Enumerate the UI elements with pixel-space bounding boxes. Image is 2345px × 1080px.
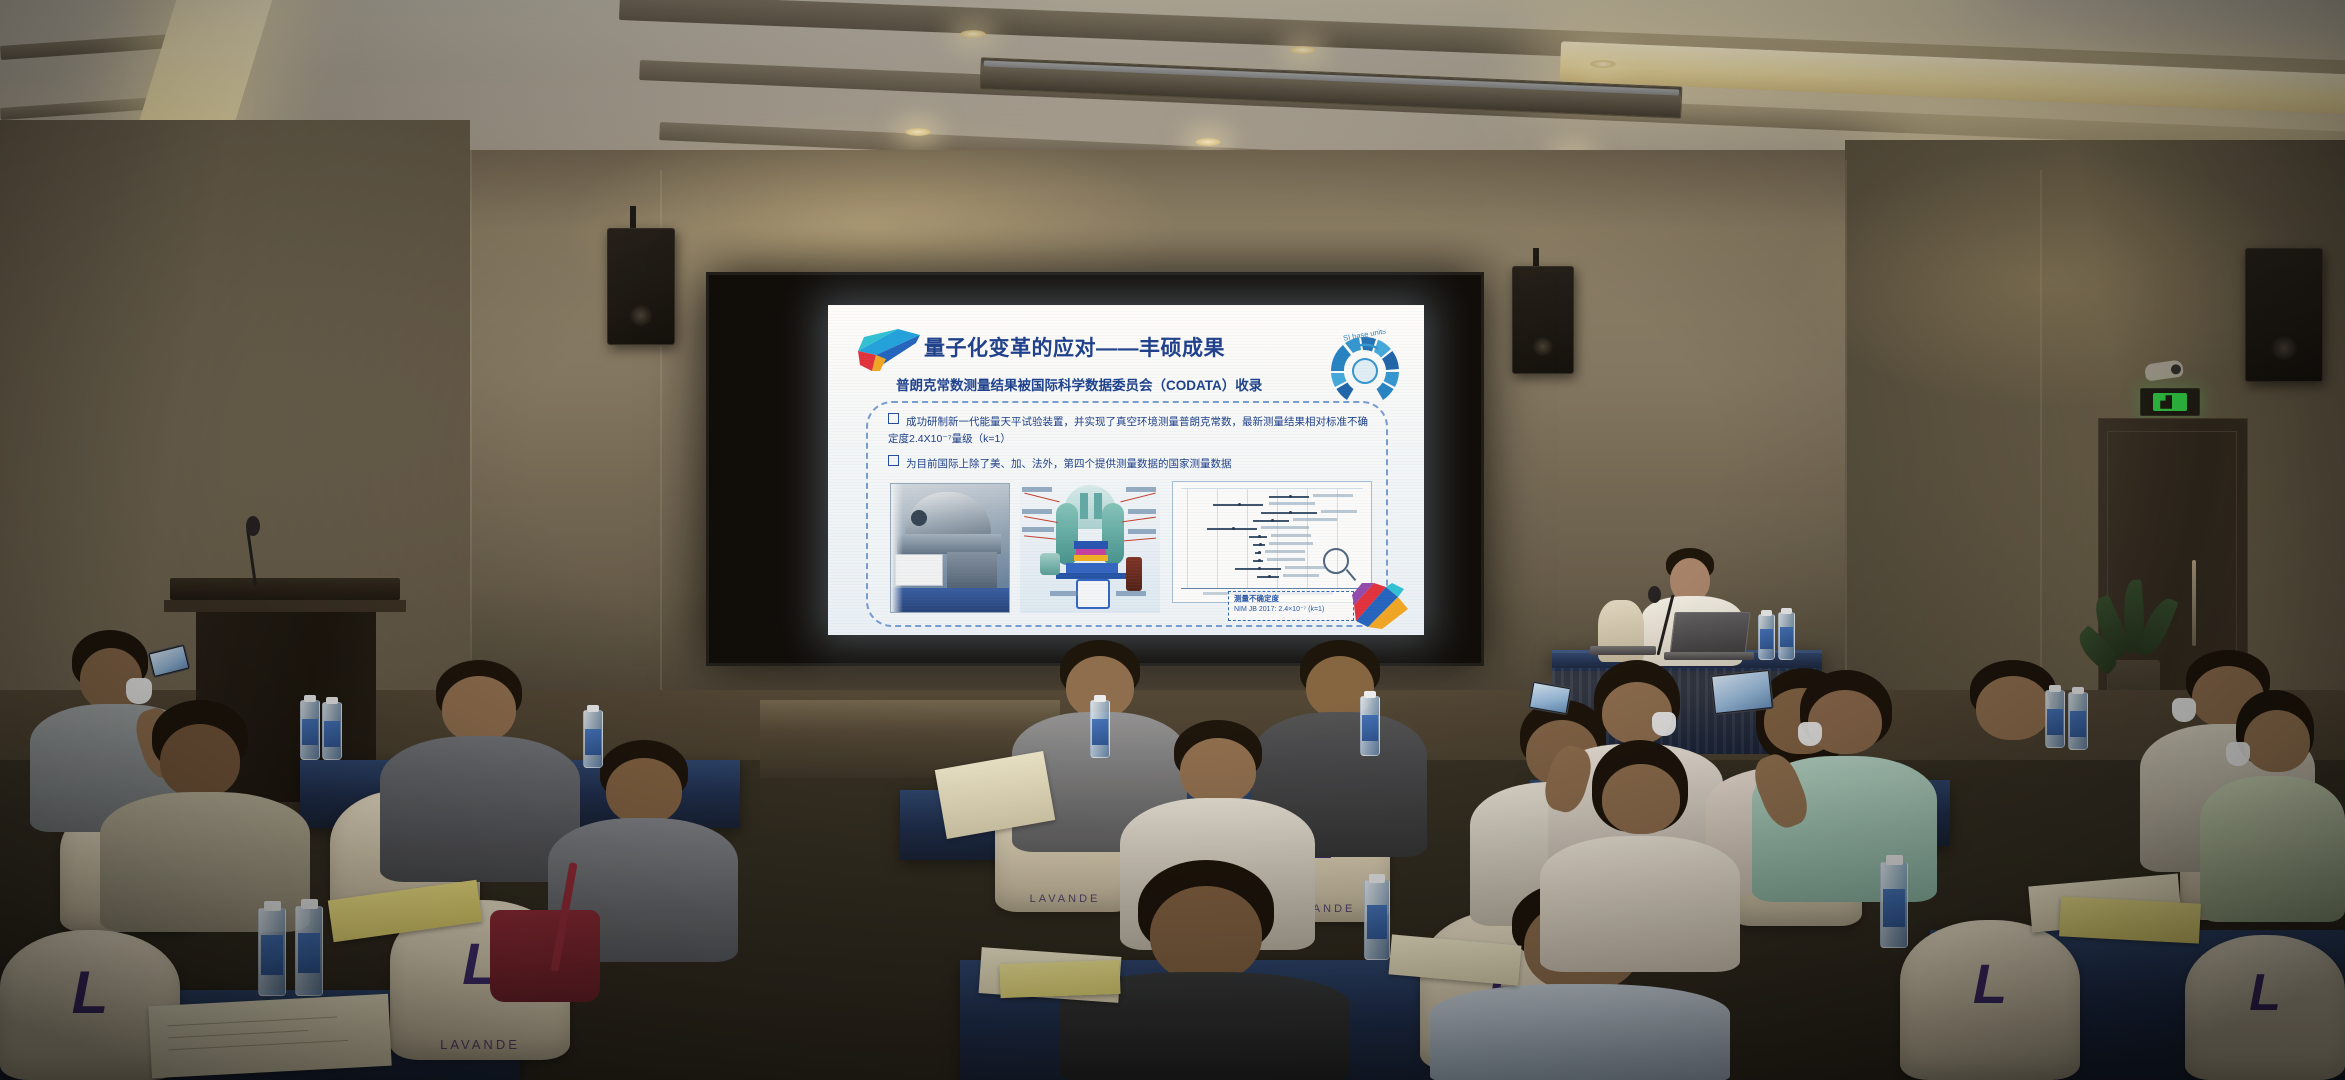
- paper-document[interactable]: [2059, 896, 2201, 943]
- audience-phone[interactable]: [1710, 669, 1774, 715]
- slide-bullet-2: 为目前国际上除了美、加、法外，第四个提供测量数据的国家测量数据: [888, 455, 1368, 473]
- audience-chair[interactable]: L: [1900, 920, 2080, 1080]
- water-bottle[interactable]: [583, 710, 603, 768]
- slide-bullet-1: 成功研制新一代能量天平试验装置，并实现了真空环境测量普朗克常数，最新测量结果相对…: [888, 413, 1368, 448]
- handbag[interactable]: [490, 910, 600, 1002]
- water-bottle[interactable]: [1090, 700, 1110, 758]
- wall-seam: [1845, 160, 1847, 700]
- ceiling-downlight: [1195, 138, 1221, 146]
- water-bottle[interactable]: [1880, 862, 1908, 948]
- water-bottle[interactable]: [322, 702, 342, 760]
- ceiling-downlight: [1590, 60, 1616, 68]
- slide-measurement-chart: [1172, 481, 1372, 603]
- audience-member: [2200, 690, 2345, 920]
- door-handle[interactable]: [2192, 560, 2196, 646]
- presenter-laptop-base[interactable]: [1664, 652, 1754, 660]
- lectern-edge: [164, 600, 406, 612]
- bullet-square-icon: [888, 413, 899, 424]
- wall-seam: [470, 150, 472, 710]
- water-bottle[interactable]: [295, 906, 323, 996]
- conference-room-photo: 量子化变革的应对——丰硕成果 普朗克常数测量结果被国际科学数据委员会（CODAT…: [0, 0, 2345, 1080]
- audience-member-foreground: [1540, 740, 1740, 970]
- magnifier-icon: [1323, 548, 1349, 574]
- presentation-slide: 量子化变革的应对——丰硕成果 普朗克常数测量结果被国际科学数据委员会（CODAT…: [828, 305, 1424, 635]
- slide-title: 量子化变革的应对——丰硕成果: [924, 332, 1225, 362]
- audience-member: [100, 700, 310, 930]
- exit-running-man-icon: [2153, 393, 2188, 412]
- wall-speaker-right: [1512, 266, 1574, 374]
- water-bottle[interactable]: [2068, 692, 2088, 750]
- ceiling-downlight: [1290, 46, 1316, 54]
- bullet-square-icon: [888, 455, 899, 466]
- water-bottle[interactable]: [1758, 614, 1775, 660]
- measurement-uncertainty-value: NIM JB 2017: 2.4×10⁻⁷ (k=1): [1234, 605, 1324, 613]
- water-bottle[interactable]: [1778, 612, 1795, 660]
- slide-fan-decoration: [856, 325, 920, 373]
- head-table-keyboard[interactable]: [1590, 646, 1656, 655]
- chair-brand-text: LAVANDE: [440, 1037, 520, 1052]
- wall-seam: [2040, 170, 2042, 690]
- water-bottle[interactable]: [2045, 690, 2065, 748]
- slide-labeled-diagram: [1020, 479, 1160, 613]
- water-bottle[interactable]: [258, 908, 286, 996]
- head-table-microphone-head: [1648, 586, 1661, 603]
- audience-member: [1752, 670, 1937, 900]
- paper-document[interactable]: [999, 960, 1120, 998]
- lectern-microphone-head: [246, 516, 260, 536]
- slide-equipment-photo: [890, 483, 1010, 613]
- exit-sign: [2140, 388, 2200, 416]
- audience-chair[interactable]: L: [2185, 935, 2345, 1080]
- slide-corner-fan-decoration: [1352, 581, 1410, 629]
- chair-logo: L: [1973, 962, 2007, 1007]
- water-bottle[interactable]: [1364, 880, 1390, 960]
- water-bottle[interactable]: [1360, 696, 1380, 756]
- chair-logo: L: [2249, 973, 2281, 1015]
- slide-subtitle: 普朗克常数测量结果被国际科学数据委员会（CODATA）收录: [896, 374, 1262, 394]
- paper-document[interactable]: [148, 994, 391, 1078]
- water-bottle[interactable]: [300, 700, 320, 760]
- wall-speaker-far-right: [2245, 248, 2323, 382]
- chair-logo: L: [72, 969, 109, 1017]
- measurement-uncertainty-heading: 测量不确定度: [1234, 593, 1279, 604]
- ceiling-downlight: [905, 128, 931, 136]
- presenter-laptop-lid[interactable]: [1669, 612, 1750, 656]
- ceiling-downlight: [960, 30, 986, 38]
- wall-speaker-left: [607, 228, 675, 345]
- si-base-units-logo: SI base units: [1322, 327, 1408, 407]
- lectern-top: [170, 578, 400, 600]
